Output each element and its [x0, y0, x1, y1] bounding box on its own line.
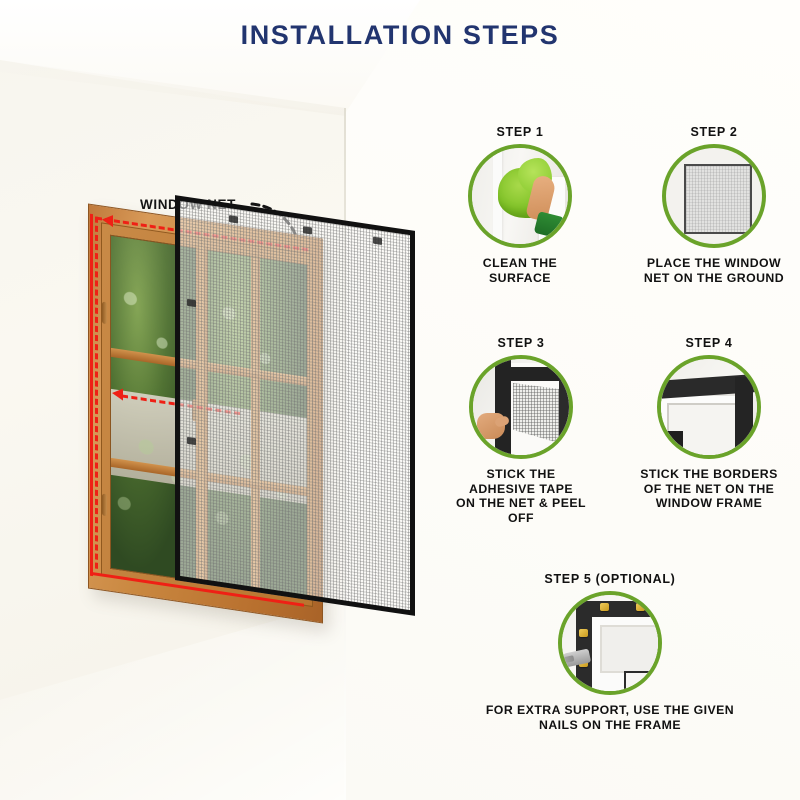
step-title: STEP 1 [456, 125, 584, 139]
hand-peeling-tape-icon [469, 355, 573, 459]
step-card-3: STEP 3 STICK THE ADHESIVE TAPE ON THE NE… [452, 336, 590, 525]
page-title: INSTALLATION STEPS [0, 20, 800, 51]
step-card-1: STEP 1 CLEAN THE SURFACE [456, 125, 584, 285]
step-caption: PLACE THE WINDOW NET ON THE GROUND [640, 256, 788, 285]
step-title: STEP 5 (OPTIONAL) [470, 572, 750, 586]
step-title: STEP 3 [452, 336, 590, 350]
red-dashed-measure-line-icon [95, 216, 98, 568]
step-card-4: STEP 4 STICK THE BORDERS OF THE NET ON T… [634, 336, 784, 511]
installation-steps-infographic: INSTALLATION STEPS WINDOW NET [0, 0, 800, 800]
mesh-net-panel-icon [175, 195, 415, 616]
step-title: STEP 2 [640, 125, 788, 139]
hand-with-cloth-cleaning-icon [468, 144, 572, 248]
step-title: STEP 4 [634, 336, 784, 350]
step-card-5: STEP 5 (OPTIONAL) FOR EXTRA SUPPORT, USE… [470, 572, 750, 732]
step-caption: FOR EXTRA SUPPORT, USE THE GIVEN NAILS O… [470, 703, 750, 732]
step-card-2: STEP 2 PLACE THE WINDOW NET ON THE GROUN… [640, 125, 788, 285]
mesh-square-icon [662, 144, 766, 248]
step-caption: STICK THE BORDERS OF THE NET ON THE WIND… [634, 467, 784, 511]
net-border-on-frame-icon [657, 355, 761, 459]
step-caption: CLEAN THE SURFACE [456, 256, 584, 285]
nails-hammer-on-frame-icon [558, 591, 662, 695]
window-net-illustration [60, 205, 410, 615]
step-caption: STICK THE ADHESIVE TAPE ON THE NET & PEE… [452, 467, 590, 525]
